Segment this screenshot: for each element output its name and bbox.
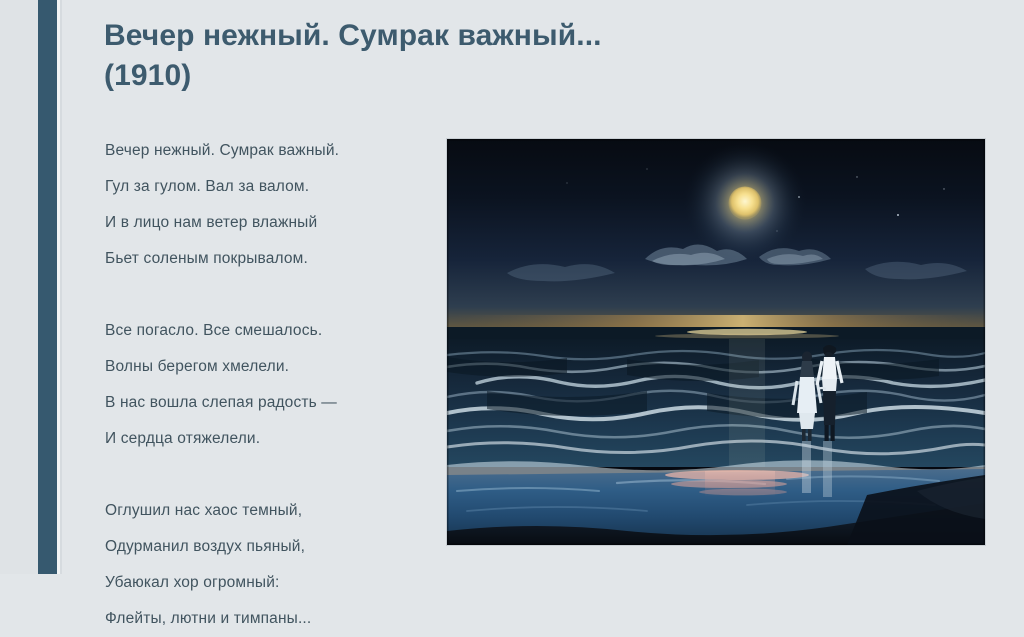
left-decor-accent-bar — [38, 0, 57, 574]
poem-line: Бьет соленым покрывалом. — [105, 241, 435, 277]
slide-canvas: Вечер нежный. Сумрак важный... (1910) Ве… — [0, 0, 1024, 574]
slide-title: Вечер нежный. Сумрак важный... (1910) — [104, 16, 804, 96]
poem-line: Вечер нежный. Сумрак важный. — [105, 133, 435, 169]
painting-artwork — [447, 139, 985, 545]
moon-column-sea — [729, 339, 765, 467]
night-seascape-painting — [447, 139, 985, 545]
poem-line: И в лицо нам ветер влажный — [105, 205, 435, 241]
left-decor-outer-band — [0, 0, 38, 574]
poem-line: И сердца отяжелели. — [105, 421, 435, 457]
poem-line: Флейты, лютни и тимпаны... — [105, 601, 435, 637]
poem-line: Все погасло. Все смешалось. — [105, 313, 435, 349]
poem-line: Гул за гулом. Вал за валом. — [105, 169, 435, 205]
moon-reflection-far-wide — [655, 334, 839, 339]
poem-line: Одурманил воздух пьяный, — [105, 529, 435, 565]
joined-hands — [818, 388, 826, 389]
poem-line: Убаюкал хор огромный: — [105, 565, 435, 601]
poem-line: В нас вошла слепая радость — — [105, 385, 435, 421]
title-line-primary: Вечер нежный. Сумрак важный... — [104, 16, 804, 56]
poem-line: Волны берегом хмелели. — [105, 349, 435, 385]
poem-stanza: Все погасло. Все смешалось. Волны берего… — [105, 313, 435, 457]
left-decor-edge-line — [60, 0, 62, 574]
poem-stanza: Оглушил нас хаос темный, Одурманил возду… — [105, 493, 435, 637]
moon-icon — [729, 187, 762, 220]
poem-body: Вечер нежный. Сумрак важный. Гул за гуло… — [105, 133, 435, 637]
poem-stanza: Вечер нежный. Сумрак важный. Гул за гуло… — [105, 133, 435, 277]
poem-line: Оглушил нас хаос темный, — [105, 493, 435, 529]
title-line-year: (1910) — [104, 56, 804, 96]
